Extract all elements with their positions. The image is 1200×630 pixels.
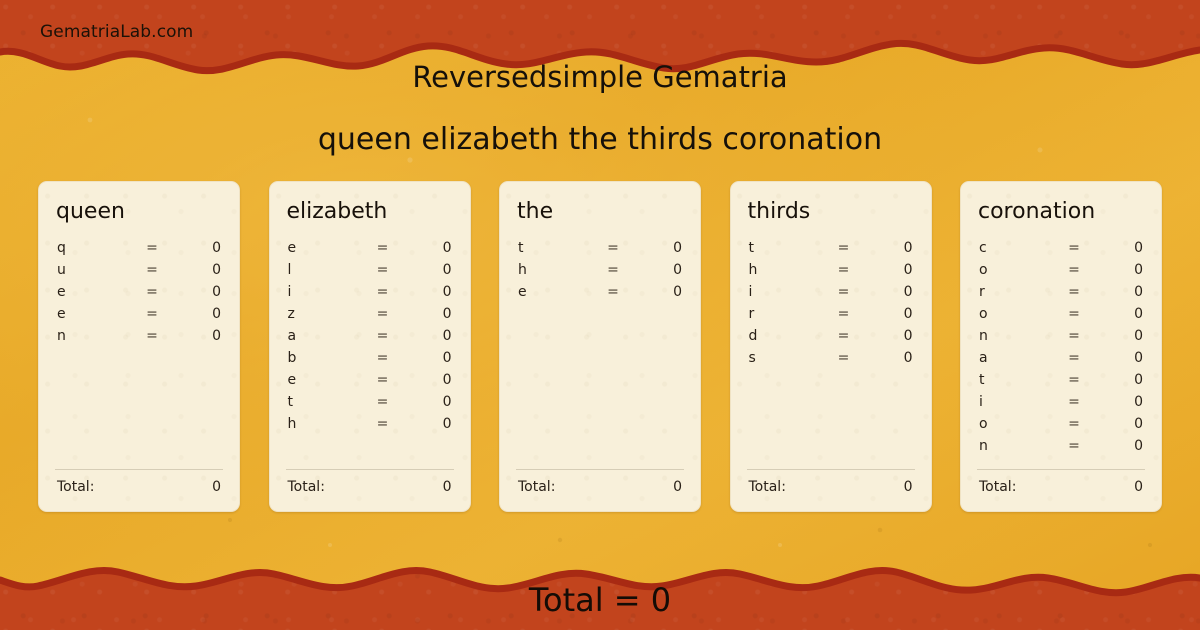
letter-row: r = 0	[747, 306, 915, 328]
letter-value: 0	[400, 394, 454, 410]
letter-value: 0	[861, 328, 915, 344]
card-word-heading: elizabeth	[287, 200, 454, 224]
letter-row: i = 0	[286, 284, 454, 306]
card-total-row: Total: 0	[55, 469, 223, 495]
letter-value: 0	[400, 416, 454, 432]
letter-value: 0	[1091, 284, 1145, 300]
equals-sign: =	[827, 240, 861, 256]
letter-row: n = 0	[55, 328, 223, 350]
letter-row: c = 0	[977, 240, 1145, 262]
letter-value: 0	[400, 372, 454, 388]
equals-sign: =	[366, 328, 400, 344]
letter-value: 0	[1091, 306, 1145, 322]
equals-sign: =	[135, 328, 169, 344]
equals-sign: =	[1057, 328, 1091, 344]
letter: b	[286, 350, 366, 366]
letter-value: 0	[169, 284, 223, 300]
letter-row: s = 0	[747, 350, 915, 372]
letter: e	[286, 372, 366, 388]
letter: i	[747, 284, 827, 300]
letter-row: t = 0	[747, 240, 915, 262]
card-word-heading: queen	[56, 200, 223, 224]
letter-value: 0	[1091, 438, 1145, 454]
site-watermark: GematriaLab.com	[40, 22, 193, 42]
letter-value-list: e = 0 l = 0 i = 0 z	[286, 240, 454, 469]
word-card: queen q = 0 u = 0 e = 0	[38, 181, 240, 512]
letter: t	[286, 394, 366, 410]
equals-sign: =	[366, 262, 400, 278]
card-word-heading: thirds	[748, 200, 915, 224]
equals-sign: =	[827, 328, 861, 344]
letter-row: e = 0	[55, 284, 223, 306]
letter-value: 0	[169, 262, 223, 278]
gematria-infographic: GematriaLab.com Reversedsimple Gematria …	[0, 0, 1200, 630]
total-label: Total:	[747, 479, 904, 495]
equals-sign: =	[1057, 394, 1091, 410]
equals-sign: =	[1057, 306, 1091, 322]
letter: t	[747, 240, 827, 256]
letter-row: r = 0	[977, 284, 1145, 306]
total-value: 0	[904, 479, 915, 495]
equals-sign: =	[827, 262, 861, 278]
letter: e	[55, 306, 135, 322]
letter: r	[747, 306, 827, 322]
total-label: Total:	[516, 479, 673, 495]
letter-value: 0	[400, 328, 454, 344]
letter: o	[977, 306, 1057, 322]
letter: e	[55, 284, 135, 300]
letter-row: z = 0	[286, 306, 454, 328]
letter: n	[977, 438, 1057, 454]
letter-row: d = 0	[747, 328, 915, 350]
letter-value: 0	[630, 262, 684, 278]
equals-sign: =	[596, 262, 630, 278]
letter: o	[977, 416, 1057, 432]
total-value: 0	[673, 479, 684, 495]
equals-sign: =	[366, 306, 400, 322]
word-card: elizabeth e = 0 l = 0 i = 0	[269, 181, 471, 512]
letter: t	[977, 372, 1057, 388]
equals-sign: =	[827, 284, 861, 300]
total-label: Total:	[55, 479, 212, 495]
letter-row: b = 0	[286, 350, 454, 372]
letter: a	[977, 350, 1057, 366]
equals-sign: =	[827, 350, 861, 366]
letter-row: o = 0	[977, 262, 1145, 284]
equals-sign: =	[366, 350, 400, 366]
letter: u	[55, 262, 135, 278]
grand-total: Total = 0	[0, 581, 1200, 619]
letter-value-list: c = 0 o = 0 r = 0 o	[977, 240, 1145, 469]
letter-value: 0	[400, 306, 454, 322]
total-value: 0	[1134, 479, 1145, 495]
equals-sign: =	[1057, 262, 1091, 278]
letter-row: h = 0	[747, 262, 915, 284]
letter: n	[55, 328, 135, 344]
equals-sign: =	[596, 240, 630, 256]
equals-sign: =	[366, 372, 400, 388]
equals-sign: =	[1057, 284, 1091, 300]
total-label: Total:	[977, 479, 1134, 495]
equals-sign: =	[366, 416, 400, 432]
letter: e	[286, 240, 366, 256]
letter-value: 0	[400, 262, 454, 278]
total-label: Total:	[286, 479, 443, 495]
letter-value-list: t = 0 h = 0 e = 0	[516, 240, 684, 469]
letter-row: t = 0	[977, 372, 1145, 394]
phrase-subtitle: queen elizabeth the thirds coronation	[0, 122, 1200, 157]
equals-sign: =	[1057, 240, 1091, 256]
letter-value: 0	[1091, 328, 1145, 344]
letter-row: q = 0	[55, 240, 223, 262]
letter: h	[516, 262, 596, 278]
letter-value: 0	[1091, 394, 1145, 410]
total-value: 0	[443, 479, 454, 495]
equals-sign: =	[366, 240, 400, 256]
letter-row: h = 0	[286, 416, 454, 438]
letter-row: l = 0	[286, 262, 454, 284]
equals-sign: =	[135, 240, 169, 256]
letter-value-list: t = 0 h = 0 i = 0 r	[747, 240, 915, 469]
letter-value: 0	[1091, 262, 1145, 278]
letter-value: 0	[861, 350, 915, 366]
letter-value: 0	[1091, 350, 1145, 366]
card-total-row: Total: 0	[286, 469, 454, 495]
word-card: the t = 0 h = 0 e = 0	[499, 181, 701, 512]
word-card: thirds t = 0 h = 0 i = 0	[730, 181, 932, 512]
letter: s	[747, 350, 827, 366]
letter-value: 0	[861, 284, 915, 300]
card-total-row: Total: 0	[977, 469, 1145, 495]
letter-value: 0	[861, 306, 915, 322]
letter: l	[286, 262, 366, 278]
letter-value: 0	[1091, 416, 1145, 432]
letter-row: a = 0	[286, 328, 454, 350]
letter-row: n = 0	[977, 438, 1145, 460]
letter-value: 0	[1091, 372, 1145, 388]
letter: h	[747, 262, 827, 278]
letter: q	[55, 240, 135, 256]
card-word-heading: the	[517, 200, 684, 224]
total-value: 0	[212, 479, 223, 495]
letter: t	[516, 240, 596, 256]
letter-row: i = 0	[977, 394, 1145, 416]
letter-row: u = 0	[55, 262, 223, 284]
equals-sign: =	[827, 306, 861, 322]
letter: a	[286, 328, 366, 344]
letter-value: 0	[630, 284, 684, 300]
equals-sign: =	[366, 394, 400, 410]
letter-row: t = 0	[286, 394, 454, 416]
equals-sign: =	[596, 284, 630, 300]
letter: r	[977, 284, 1057, 300]
letter-value: 0	[861, 240, 915, 256]
letter-row: e = 0	[286, 240, 454, 262]
letter-value: 0	[169, 306, 223, 322]
letter: c	[977, 240, 1057, 256]
letter-value: 0	[169, 240, 223, 256]
letter-value: 0	[400, 284, 454, 300]
letter-value: 0	[400, 350, 454, 366]
letter-row: o = 0	[977, 306, 1145, 328]
letter: n	[977, 328, 1057, 344]
card-word-heading: coronation	[978, 200, 1145, 224]
letter-row: t = 0	[516, 240, 684, 262]
letter-value: 0	[1091, 240, 1145, 256]
letter: i	[286, 284, 366, 300]
equals-sign: =	[1057, 372, 1091, 388]
word-card-row: queen q = 0 u = 0 e = 0	[38, 181, 1162, 512]
card-total-row: Total: 0	[747, 469, 915, 495]
letter-row: h = 0	[516, 262, 684, 284]
page-title: Reversedsimple Gematria	[0, 60, 1200, 94]
letter-row: o = 0	[977, 416, 1145, 438]
letter: o	[977, 262, 1057, 278]
equals-sign: =	[366, 284, 400, 300]
equals-sign: =	[1057, 416, 1091, 432]
letter: h	[286, 416, 366, 432]
word-card: coronation c = 0 o = 0 r = 0	[960, 181, 1162, 512]
equals-sign: =	[135, 284, 169, 300]
letter-row: i = 0	[747, 284, 915, 306]
letter-value: 0	[169, 328, 223, 344]
equals-sign: =	[135, 306, 169, 322]
letter-row: e = 0	[516, 284, 684, 306]
letter: i	[977, 394, 1057, 410]
letter-value: 0	[630, 240, 684, 256]
card-total-row: Total: 0	[516, 469, 684, 495]
letter-row: e = 0	[286, 372, 454, 394]
equals-sign: =	[135, 262, 169, 278]
letter-value-list: q = 0 u = 0 e = 0 e	[55, 240, 223, 469]
letter-value: 0	[400, 240, 454, 256]
equals-sign: =	[1057, 350, 1091, 366]
equals-sign: =	[1057, 438, 1091, 454]
letter: z	[286, 306, 366, 322]
letter-row: e = 0	[55, 306, 223, 328]
letter-row: n = 0	[977, 328, 1145, 350]
letter-row: a = 0	[977, 350, 1145, 372]
letter-value: 0	[861, 262, 915, 278]
letter: d	[747, 328, 827, 344]
letter: e	[516, 284, 596, 300]
